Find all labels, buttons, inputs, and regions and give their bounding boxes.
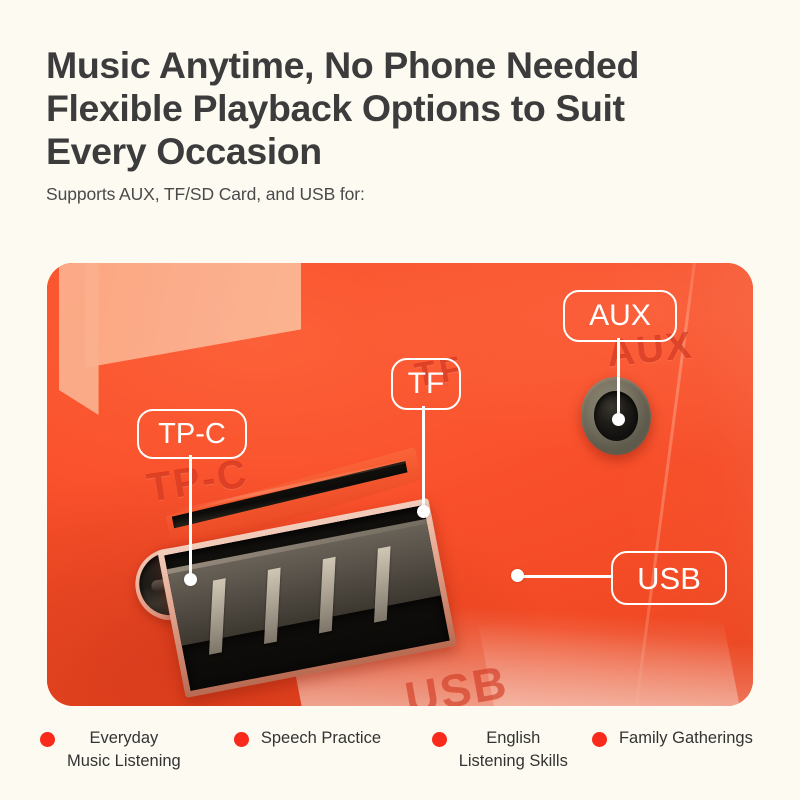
bullet-dot-icon xyxy=(234,732,249,747)
usb-pin xyxy=(319,557,336,634)
list-item-label: English Listening Skills xyxy=(459,727,568,773)
callout-label-aux: AUX xyxy=(563,290,677,342)
bullet-dot-icon xyxy=(40,732,55,747)
list-item-label: Everyday Music Listening xyxy=(67,727,181,773)
list-item: Family Gatherings xyxy=(592,727,770,750)
callout-label-usb: USB xyxy=(611,551,727,605)
callout-label-tpc: TP-C xyxy=(137,409,247,459)
page-subtitle: Supports AUX, TF/SD Card, and USB for: xyxy=(46,183,758,205)
callout-leader-aux xyxy=(617,338,620,419)
callout-anchor-dot-usb xyxy=(511,569,524,582)
header-block: Music Anytime, No Phone Needed Flexible … xyxy=(46,44,758,205)
usb-pin xyxy=(264,567,281,644)
page-title: Music Anytime, No Phone Needed Flexible … xyxy=(46,44,758,173)
callout-leader-tpc xyxy=(189,455,192,579)
callout-anchor-dot-aux xyxy=(612,413,625,426)
usb-pin xyxy=(209,578,226,655)
callout-anchor-dot-tf xyxy=(417,505,430,518)
list-item: English Listening Skills xyxy=(432,727,592,773)
list-item-label: Family Gatherings xyxy=(619,727,753,750)
list-item: Everyday Music Listening xyxy=(40,727,234,773)
list-item-label: Speech Practice xyxy=(261,727,381,750)
callout-leader-usb xyxy=(517,575,613,578)
callout-label-tf: TF xyxy=(391,358,461,410)
list-item: Speech Practice xyxy=(234,727,432,750)
usb-pin xyxy=(374,546,391,623)
callout-leader-tf xyxy=(422,406,425,511)
callout-anchor-dot-tpc xyxy=(184,573,197,586)
bullet-dot-icon xyxy=(432,732,447,747)
product-photo: TP-C TF AUX USB xyxy=(47,263,753,706)
use-case-list: Everyday Music Listening Speech Practice… xyxy=(40,727,770,773)
bullet-dot-icon xyxy=(592,732,607,747)
